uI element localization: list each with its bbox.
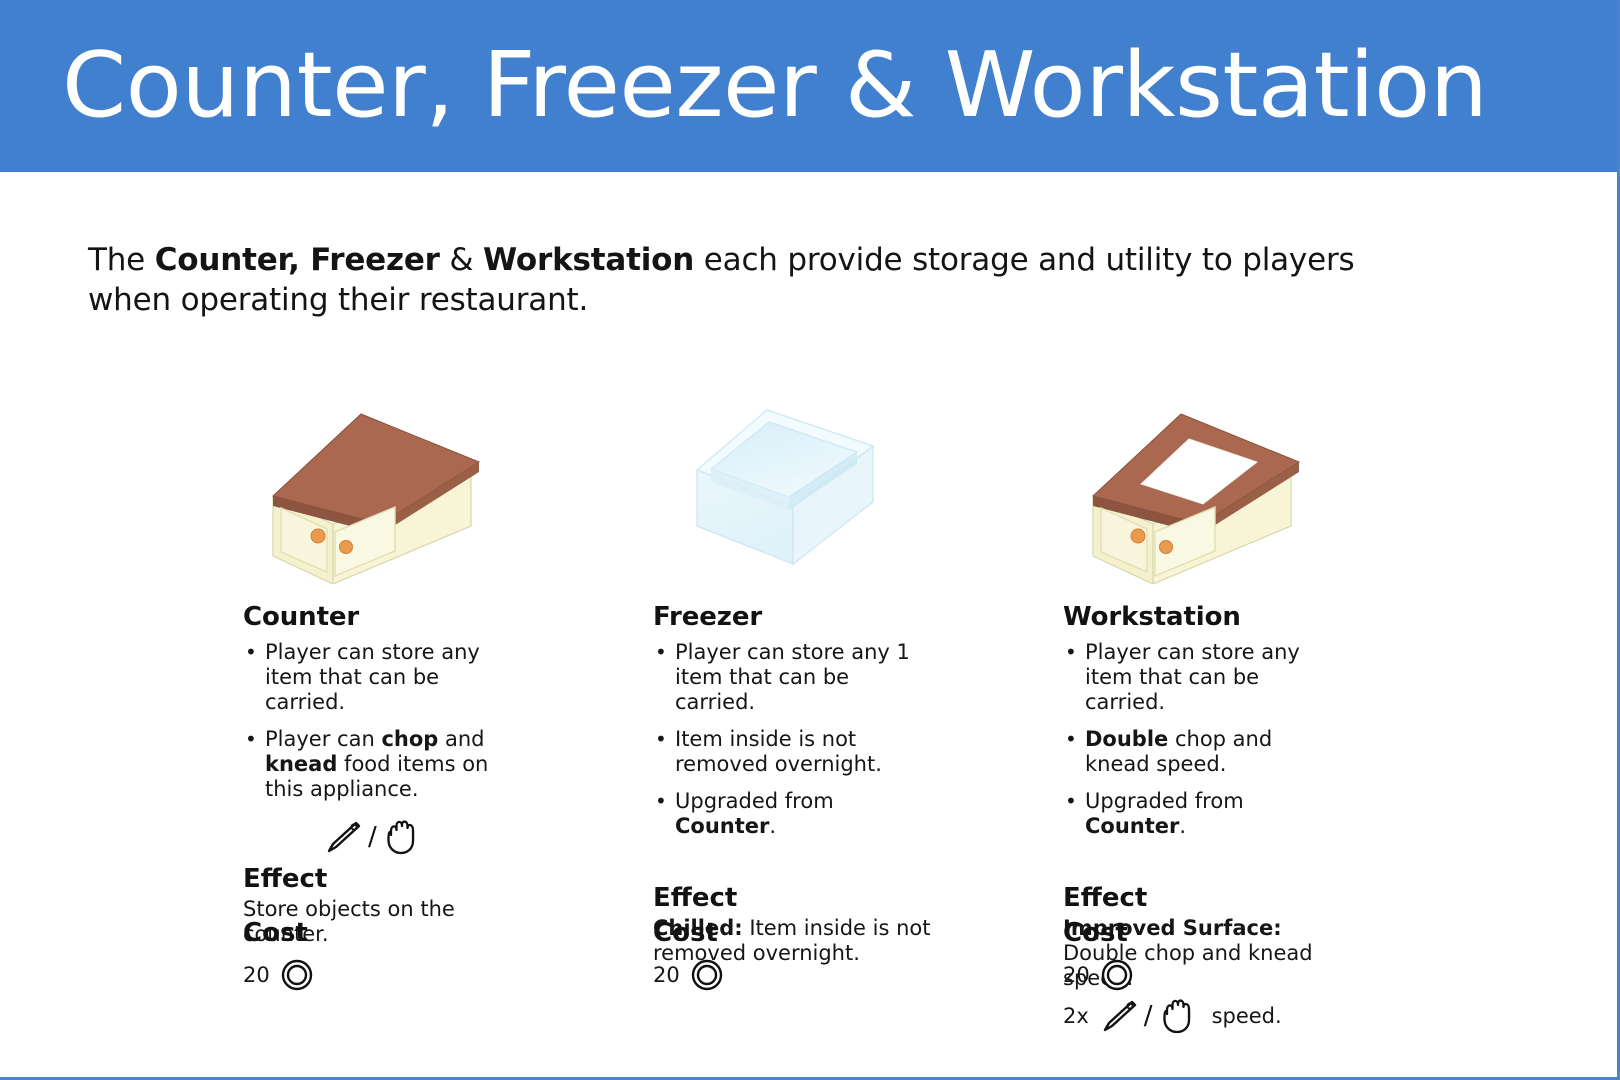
cost-row-counter: 20	[243, 958, 314, 992]
bullet-text: Player can	[265, 727, 381, 751]
bullet-bold: Double	[1085, 727, 1168, 751]
item-name-workstation: Workstation	[1063, 602, 1463, 632]
list-item: Player can store any item that can be ca…	[1063, 640, 1343, 715]
column-workstation: Workstation Player can store any item th…	[1063, 380, 1463, 1043]
bullet-text: Upgraded from	[675, 789, 834, 813]
column-freezer: Freezer Player can store any 1 item that…	[653, 380, 1053, 966]
bullet-mid: and	[438, 727, 484, 751]
cost-value-freezer: 20	[653, 963, 680, 987]
bullet-bold: chop	[381, 727, 438, 751]
bullet-text: Player can store any 1 item that can be …	[675, 640, 910, 714]
workstation-appliance-icon	[1081, 384, 1311, 584]
bullet-text: Upgraded from	[1085, 789, 1244, 813]
coin-icon	[690, 958, 724, 992]
cost-value-workstation: 20	[1063, 963, 1090, 987]
list-item: Player can store any 1 item that can be …	[653, 640, 933, 715]
icon-separator: /	[1144, 1001, 1153, 1031]
bullet-text: Player can store any item that can be ca…	[1085, 640, 1300, 714]
list-item: Player can store any item that can be ca…	[243, 640, 523, 715]
cost-row-workstation: 20	[1063, 958, 1134, 992]
cost-label-counter: Cost	[243, 918, 308, 948]
infographic-page: Counter, Freezer & Workstation The Count…	[0, 0, 1620, 1080]
page-header-bar: Counter, Freezer & Workstation	[0, 0, 1620, 172]
bullet-bold-2: knead	[265, 752, 337, 776]
intro-paragraph: The Counter, Freezer & Workstation each …	[88, 240, 1388, 320]
workstation-art	[1063, 380, 1463, 590]
knife-icon	[323, 817, 363, 857]
bullet-bold: Counter	[1085, 814, 1179, 838]
hand-icon	[1158, 996, 1198, 1036]
bullet-list-workstation: Player can store any item that can be ca…	[1063, 640, 1463, 839]
coin-icon	[1100, 958, 1134, 992]
knife-icon	[1099, 996, 1139, 1036]
intro-middle: &	[440, 242, 483, 278]
effect-label-counter: Effect	[243, 864, 643, 894]
icon-separator: /	[368, 822, 377, 852]
page-title: Counter, Freezer & Workstation	[62, 26, 1592, 146]
list-item: Item inside is not removed overnight.	[653, 727, 933, 777]
bullet-post: .	[769, 814, 776, 838]
column-counter: Counter Player can store any item that c…	[243, 380, 643, 947]
counter-art	[243, 380, 643, 590]
list-item: Player can chop and knead food items on …	[243, 727, 523, 802]
freezer-appliance-icon	[685, 386, 885, 576]
bullet-list-freezer: Player can store any 1 item that can be …	[653, 640, 1053, 839]
effect-label-workstation: Effect	[1063, 883, 1463, 913]
speed-trailing-text: speed.	[1212, 1004, 1282, 1028]
item-name-counter: Counter	[243, 602, 643, 632]
item-name-freezer: Freezer	[653, 602, 1053, 632]
counter-action-icons: /	[243, 814, 643, 860]
bullet-list-counter: Player can store any item that can be ca…	[243, 640, 643, 802]
bullet-text: Player can store any item that can be ca…	[265, 640, 480, 714]
freezer-art	[653, 380, 1053, 590]
list-item: Double chop and knead speed.	[1063, 727, 1343, 777]
list-item: Upgraded from Counter.	[653, 789, 933, 839]
cost-value-counter: 20	[243, 963, 270, 987]
cost-label-freezer: Cost	[653, 918, 718, 948]
bullet-bold: Counter	[675, 814, 769, 838]
coin-icon	[280, 958, 314, 992]
list-item: Upgraded from Counter.	[1063, 789, 1343, 839]
cost-row-freezer: 20	[653, 958, 724, 992]
cost-label-workstation: Cost	[1063, 918, 1128, 948]
counter-appliance-icon	[261, 384, 491, 584]
intro-bold-2: Workstation	[483, 242, 694, 278]
bullet-post: .	[1179, 814, 1186, 838]
hand-icon	[382, 817, 422, 857]
workstation-speed-icons: 2x / speed.	[1063, 993, 1463, 1039]
intro-prefix: The	[88, 242, 155, 278]
intro-bold-1: Counter, Freezer	[155, 242, 440, 278]
effect-label-freezer: Effect	[653, 883, 1053, 913]
bullet-text: Item inside is not removed overnight.	[675, 727, 882, 776]
speed-multiplier: 2x	[1063, 1004, 1089, 1028]
